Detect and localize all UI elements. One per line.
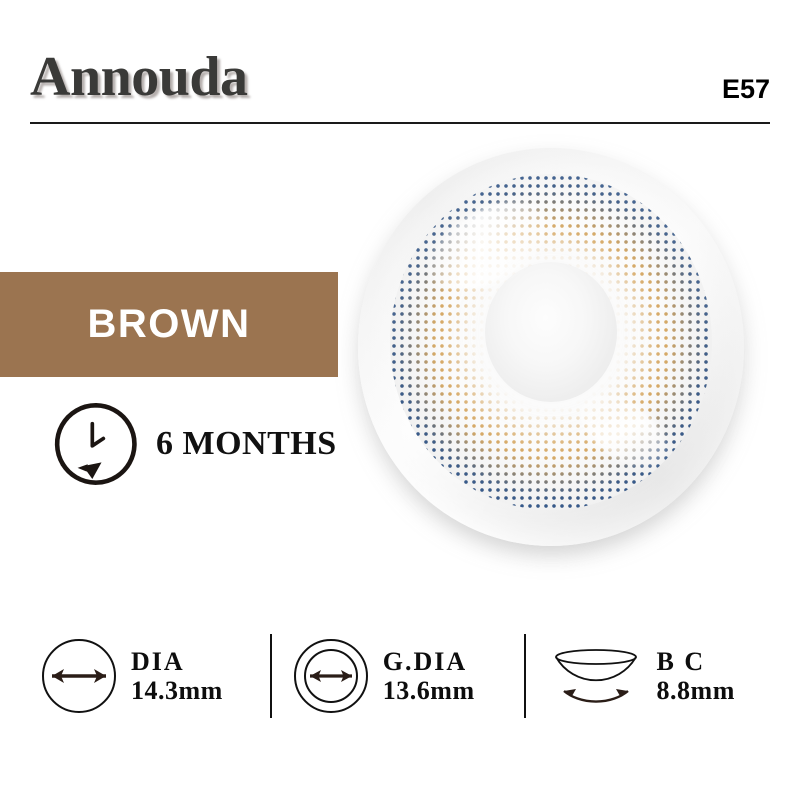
product-spec-card: Annouda E57 BROWN 6 MONTHS: [0, 0, 800, 800]
spec-dia-text: DIA 14.3mm: [131, 647, 223, 705]
spec-gdia-text: G.DIA 13.6mm: [383, 647, 475, 705]
duration-label: 6 MONTHS: [156, 425, 337, 463]
circle-horizontal-arrow-icon: [40, 637, 118, 715]
lens-curvature-icon: [548, 639, 644, 713]
spec-gdia: G.DIA 13.6mm: [272, 628, 524, 724]
header: Annouda E57: [30, 52, 770, 124]
spec-dia-title: DIA: [131, 647, 223, 676]
spec-gdia-title: G.DIA: [383, 647, 475, 676]
duration-row: 6 MONTHS: [50, 398, 337, 490]
spec-bc-value: 8.8mm: [657, 676, 735, 705]
contact-lens-image: [352, 140, 752, 570]
spec-dia: DIA 14.3mm: [40, 628, 270, 724]
spec-gdia-value: 13.6mm: [383, 676, 475, 705]
spec-bc: B C 8.8mm: [526, 628, 760, 724]
product-code: E57: [722, 74, 770, 105]
clock-rotate-icon: [50, 398, 142, 490]
color-banner: BROWN: [0, 272, 338, 377]
header-divider: [30, 122, 770, 124]
spec-bc-text: B C 8.8mm: [657, 647, 735, 705]
spec-dia-value: 14.3mm: [131, 676, 223, 705]
lens-pupil-opening: [485, 262, 617, 402]
lens-pattern-area: [390, 174, 712, 510]
double-circle-horizontal-arrow-icon: [292, 637, 370, 715]
color-name-label: BROWN: [87, 302, 250, 347]
spec-bc-title: B C: [657, 647, 735, 676]
brand-name: Annouda: [30, 48, 248, 107]
specs-row: DIA 14.3mm G.DIA 13.6mm: [40, 628, 760, 724]
